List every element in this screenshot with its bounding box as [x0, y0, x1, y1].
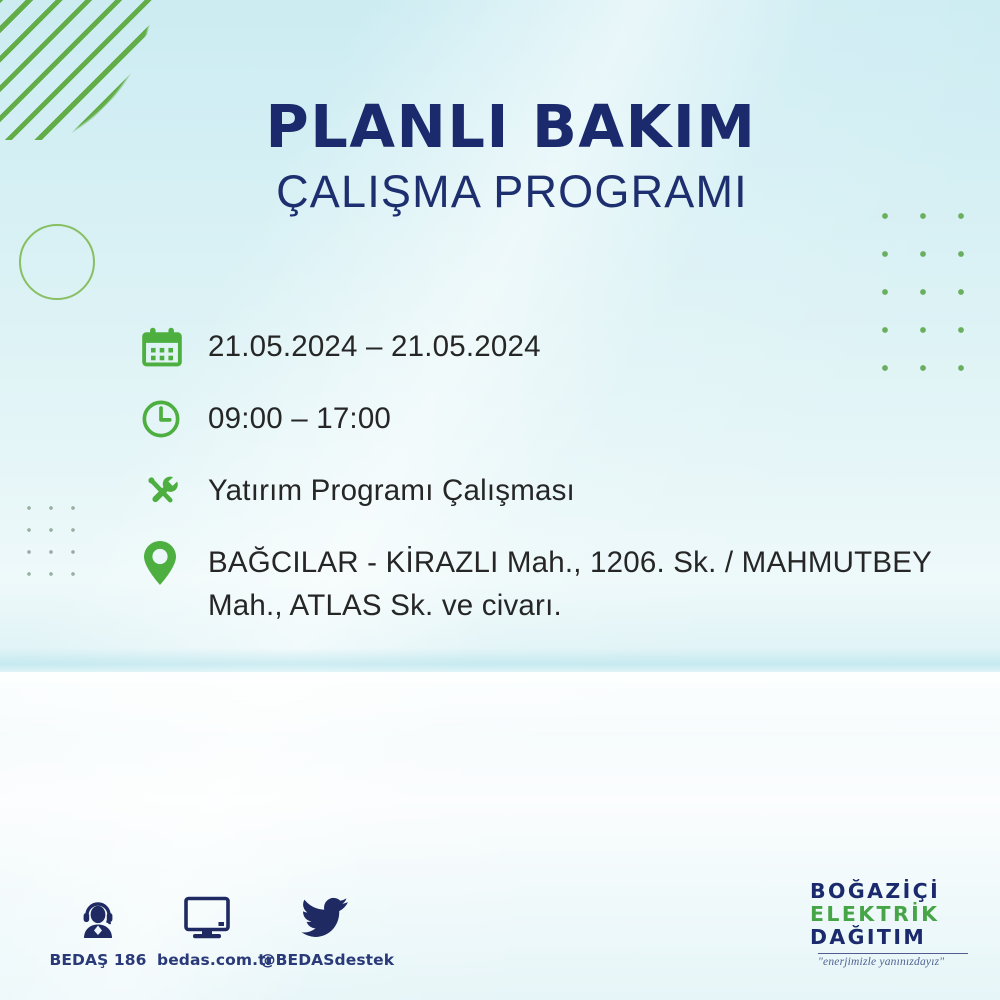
- twitter-bird-icon: [260, 890, 390, 946]
- background-wave-lower: [0, 672, 1000, 732]
- brand-divider: [818, 953, 968, 954]
- detail-date-text: 21.05.2024 – 21.05.2024: [186, 318, 541, 369]
- brand-line-1: BOĞAZİÇİ: [810, 880, 982, 903]
- detail-time-text: 09:00 – 17:00: [186, 390, 391, 441]
- location-pin-icon: [140, 534, 186, 592]
- detail-row-work-type: Yatırım Programı Çalışması: [140, 462, 970, 526]
- detail-row-date: 21.05.2024 – 21.05.2024: [140, 318, 970, 382]
- footer-contact-strip: BEDAŞ 186 bedas.com.tr @BEDASdestek: [42, 890, 393, 969]
- footer-item-website[interactable]: bedas.com.tr: [157, 890, 257, 969]
- page-subtitle: ÇALIŞMA PROGRAMI: [0, 164, 1000, 220]
- maintenance-details: 21.05.2024 – 21.05.2024 09:00 – 17:00: [140, 318, 970, 636]
- dot-grid-decoration-left: [18, 497, 88, 589]
- detail-row-location: BAĞCILAR - KİRAZLI Mah., 1206. Sk. / MAH…: [140, 534, 970, 628]
- footer-phone-label: BEDAŞ 186: [42, 951, 154, 969]
- brand-logo: BOĞAZİÇİ ELEKTRİK DAĞITIM "enerjimizle y…: [810, 880, 982, 968]
- poster-title-block: PLANLI BAKIM ÇALIŞMA PROGRAMI: [0, 96, 1000, 220]
- brand-tagline: "enerjimizle yanınızdayız": [810, 956, 982, 968]
- clock-icon: [140, 390, 186, 448]
- brand-line-2: ELEKTRİK: [810, 903, 982, 926]
- footer-website-label: bedas.com.tr: [157, 951, 257, 969]
- detail-row-time: 09:00 – 17:00: [140, 390, 970, 454]
- tools-icon: [140, 462, 186, 520]
- detail-location-text: BAĞCILAR - KİRAZLI Mah., 1206. Sk. / MAH…: [186, 534, 970, 628]
- detail-work-type-text: Yatırım Programı Çalışması: [186, 462, 575, 513]
- monitor-icon: [157, 890, 257, 946]
- footer-twitter-label: @BEDASdestek: [260, 951, 390, 969]
- footer-item-phone[interactable]: BEDAŞ 186: [42, 890, 154, 969]
- call-center-agent-icon: [42, 890, 154, 946]
- page-title: PLANLI BAKIM: [0, 96, 1000, 158]
- footer-item-twitter[interactable]: @BEDASdestek: [260, 890, 390, 969]
- circle-outline-decoration: [19, 224, 95, 300]
- planned-maintenance-poster: PLANLI BAKIM ÇALIŞMA PROGRAMI: [0, 0, 1000, 1000]
- calendar-icon: [140, 318, 186, 376]
- brand-line-3: DAĞITIM: [810, 926, 982, 949]
- background-wave-upper: [0, 648, 1000, 682]
